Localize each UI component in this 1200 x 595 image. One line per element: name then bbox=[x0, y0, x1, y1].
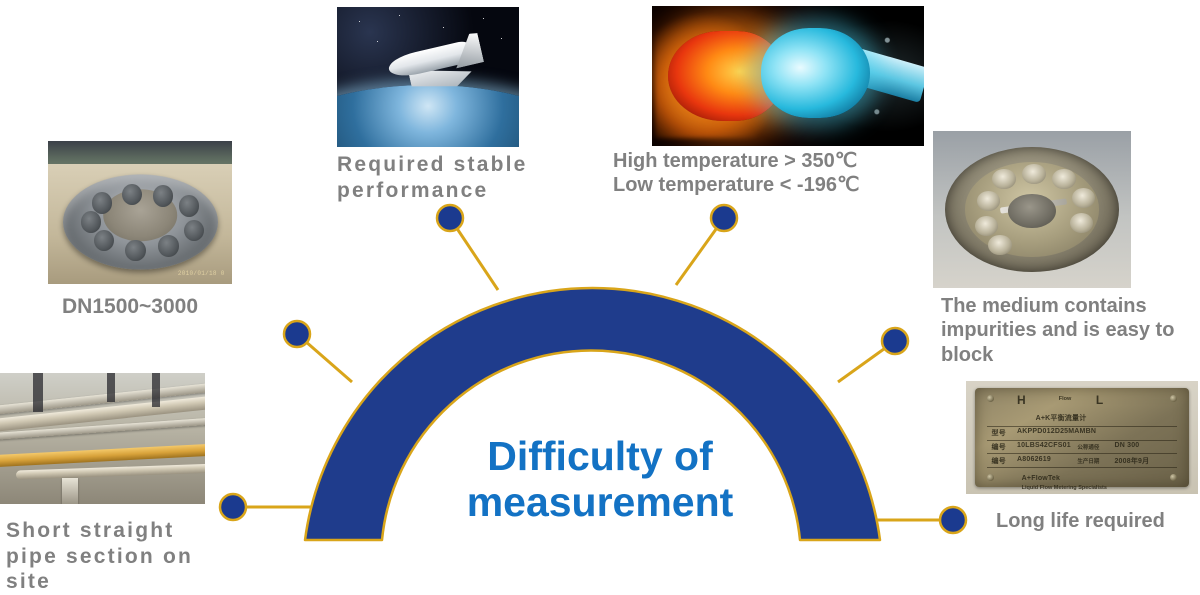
rack-column bbox=[152, 373, 160, 407]
nameplate-row2-label: 编号 bbox=[992, 442, 1006, 452]
nameplate-row3-value: A8062619 bbox=[1017, 456, 1051, 463]
meter-port bbox=[1052, 169, 1076, 189]
nameplate-divider bbox=[987, 453, 1177, 454]
nameplate-flow-label: Flow bbox=[1059, 396, 1072, 402]
nameplate-screw bbox=[1170, 474, 1177, 481]
caption-large-diameter: DN1500~3000 bbox=[62, 294, 292, 320]
nameplate-divider bbox=[987, 426, 1177, 427]
connector-dot-large-diameter bbox=[284, 321, 310, 347]
flange-bolt-hole bbox=[81, 211, 101, 232]
flange-bolt-hole bbox=[122, 184, 142, 205]
ice-fist bbox=[761, 28, 870, 118]
nameplate-row3-value2: 2008年9月 bbox=[1114, 456, 1149, 466]
nameplate-body bbox=[975, 388, 1188, 487]
space-shuttle-photo[interactable] bbox=[337, 7, 519, 147]
process-pipe-yellow bbox=[0, 443, 205, 468]
rack-support bbox=[62, 478, 78, 504]
nameplate-photo[interactable]: H Flow L A+K平衡流量计 型号 AKPPD012D25MAMBN 编号… bbox=[966, 381, 1198, 494]
flange-bolt-hole bbox=[125, 240, 145, 261]
caption-medium-impurities: The medium contains impurities and is ea… bbox=[941, 294, 1193, 367]
caption-short-straight-pipe: Short straight pipe section on site bbox=[6, 518, 221, 595]
connector-dot-medium-impurities bbox=[882, 328, 908, 354]
meter-port bbox=[988, 235, 1012, 255]
meter-hub bbox=[1008, 194, 1056, 229]
flange-bolt-hole bbox=[153, 185, 173, 206]
pipe-rack-photo[interactable] bbox=[0, 373, 205, 504]
process-pipe bbox=[16, 464, 205, 480]
connector-dot-long-life bbox=[940, 507, 966, 533]
earth-horizon bbox=[337, 85, 519, 147]
large-flange-photo[interactable]: 2010/01/18 0 bbox=[48, 141, 232, 284]
nameplate-row1-value: AKPPD012D25MAMBN bbox=[1017, 428, 1096, 435]
nameplate-row2-label2: 公称通径 bbox=[1077, 443, 1099, 451]
rack-column bbox=[107, 373, 115, 402]
connector-dot-short-straight-pipe bbox=[220, 494, 246, 520]
connector-dot-temperature-range bbox=[711, 205, 737, 231]
fire-ice-fists-photo[interactable] bbox=[652, 6, 924, 146]
infographic-canvas: Difficulty of measurement 2010/01/18 0 D… bbox=[0, 0, 1200, 595]
flange-bolt-hole bbox=[158, 235, 178, 256]
photo-date-stamp: 2010/01/18 0 bbox=[178, 270, 225, 277]
caption-temperature-range: High temperature > 350℃ Low temperature … bbox=[613, 149, 943, 198]
nameplate-divider bbox=[987, 440, 1177, 441]
nameplate-divider bbox=[987, 467, 1177, 468]
caption-stable-performance: Required stable performance bbox=[337, 152, 577, 203]
page-title: Difficulty of measurement bbox=[440, 434, 760, 526]
nameplate-row1-label: 型号 bbox=[992, 428, 1006, 438]
clogged-flowmeter-photo[interactable] bbox=[933, 131, 1131, 288]
meter-port bbox=[1072, 188, 1096, 208]
nameplate-header-right: L bbox=[1096, 393, 1104, 407]
nameplate-screw bbox=[987, 395, 994, 402]
caption-long-life: Long life required bbox=[996, 509, 1200, 533]
meter-port bbox=[977, 191, 1001, 211]
nameplate-row3-label: 编号 bbox=[992, 456, 1006, 466]
nameplate-brand-cn: A+K平衡流量计 bbox=[1036, 413, 1087, 423]
nameplate-row2-value: 10LBS42CFS01 bbox=[1017, 442, 1071, 449]
nameplate-screw bbox=[1170, 395, 1177, 402]
connector-dot-stable-performance bbox=[437, 205, 463, 231]
meter-port bbox=[992, 169, 1016, 189]
flange-bolt-hole bbox=[179, 195, 199, 216]
nameplate-header-left: H bbox=[1017, 393, 1026, 407]
meter-port bbox=[1022, 164, 1046, 184]
nameplate-row3-label2: 生产日期 bbox=[1077, 457, 1099, 465]
rack-column bbox=[33, 373, 43, 412]
nameplate-brand-bottom: A+FlowTek bbox=[1022, 475, 1060, 482]
nameplate-screw bbox=[987, 474, 994, 481]
nameplate-brand-sub: Liquid Flow Metering Specialists bbox=[1022, 485, 1107, 491]
nameplate-row2-value2: DN 300 bbox=[1114, 442, 1139, 449]
